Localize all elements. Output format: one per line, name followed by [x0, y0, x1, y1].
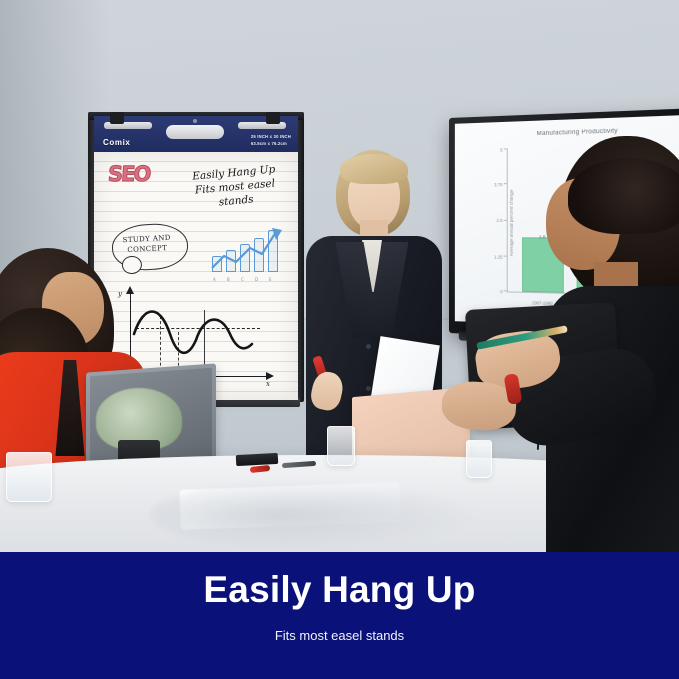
pad-size-label: 25 INCH x 30 INCH 63.5cm x 76.2cm	[251, 134, 291, 147]
attendee-right-hair-front	[568, 158, 679, 234]
chart-y-tick	[504, 255, 508, 256]
water-glass[interactable]	[6, 452, 52, 502]
pad-size-metric: 63.5cm x 76.2cm	[251, 141, 291, 148]
doodle-bar-label: C	[241, 277, 244, 282]
promo-banner: Easily Hang Up Fits most easel stands	[0, 552, 679, 679]
doodle-bar-label: A	[213, 277, 216, 282]
pad-carry-handle[interactable]	[166, 125, 224, 139]
pad-size-imperial: 25 INCH x 30 INCH	[251, 134, 291, 141]
chart-y-tick-label: 0	[487, 289, 503, 294]
handwritten-note: Easily Hang Up Fits most easel stands	[174, 161, 295, 214]
chart-y-tick-label: 3.75	[487, 182, 503, 187]
pad-clamp-left[interactable]	[110, 112, 124, 124]
presenter-jacket-button	[366, 386, 371, 391]
chart-y-tick-label: 2.5	[487, 218, 503, 223]
chart-y-tick	[504, 219, 508, 220]
doodle-bar-label: D	[255, 277, 258, 282]
seo-doodle: SEO	[107, 162, 150, 186]
banner-subtitle: Fits most easel stands	[0, 628, 679, 643]
growth-chart-doodle: A B C D E	[210, 224, 286, 276]
attendee-right-person	[512, 136, 679, 556]
chart-y-tick-label: 1.25	[487, 254, 503, 259]
chart-y-tick-label: 5	[487, 148, 503, 154]
doodle-bar-label: E	[269, 277, 272, 282]
smartphone[interactable]	[236, 453, 279, 466]
doodle-trend-arrow	[210, 224, 286, 276]
chart-y-tick	[504, 290, 508, 291]
doodle-bar-label: B	[227, 277, 230, 282]
chart-y-tick	[504, 149, 508, 150]
presenter-jacket-button	[366, 344, 371, 349]
product-lifestyle-image: Comix 25 INCH x 30 INCH 63.5cm x 76.2cm …	[0, 0, 679, 679]
presenter-fringe	[340, 154, 408, 184]
water-glass[interactable]	[466, 440, 492, 478]
brand-logo: Comix	[103, 138, 130, 147]
graph-x-arrow	[266, 372, 274, 380]
photo-scene: Comix 25 INCH x 30 INCH 63.5cm x 76.2cm …	[0, 0, 679, 556]
pad-clamp-right[interactable]	[266, 112, 280, 124]
table-highlight	[150, 480, 480, 550]
water-glass[interactable]	[327, 426, 355, 466]
graph-x-label: x	[266, 380, 270, 388]
chart-y-tick	[504, 183, 508, 184]
banner-headline: Easily Hang Up	[0, 571, 679, 610]
